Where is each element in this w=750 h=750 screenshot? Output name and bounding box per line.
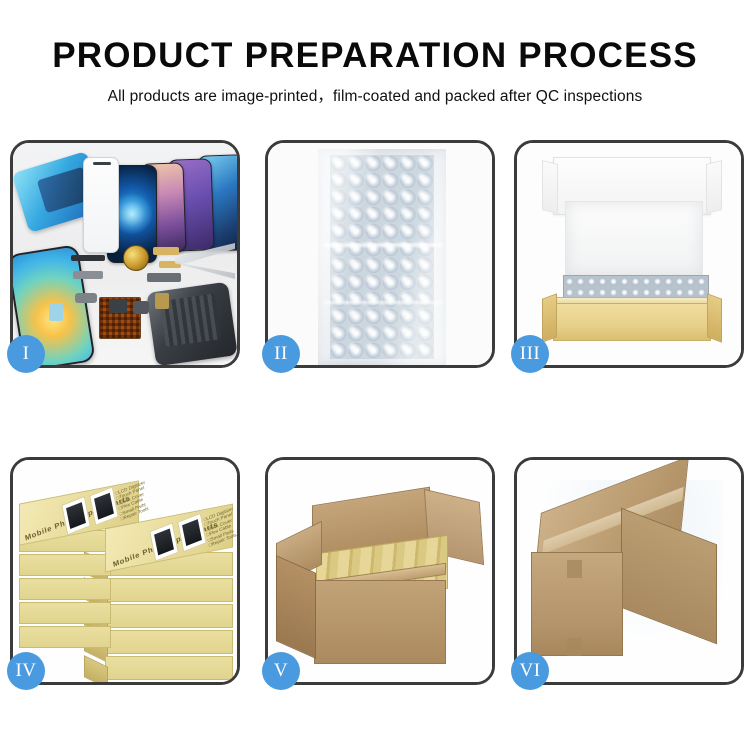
page-subtitle: All products are image-printed，film-coat… (0, 84, 750, 106)
spare-part-icon (71, 255, 105, 261)
carton-left-face (276, 555, 316, 659)
step-panel-5: V (265, 457, 495, 685)
step-2-image (268, 143, 492, 365)
spare-part-icon (109, 299, 127, 313)
spare-part-icon (49, 303, 63, 321)
step-badge-5: V (262, 652, 300, 690)
step-panel-4: Mobile Phone Spare Parts LCD Digitizer T… (10, 457, 240, 685)
carton-front-face (314, 580, 446, 664)
step-panel-2: II (265, 140, 495, 368)
step-badge-4: IV (7, 652, 45, 690)
product-preparation-infographic: PRODUCT PREPARATION PROCESS All products… (0, 0, 750, 750)
box-phone-image (149, 522, 179, 561)
steps-grid: I II III (0, 140, 750, 685)
carton-seam (567, 560, 582, 578)
speaker-coil-icon (123, 245, 149, 271)
step-5-image (268, 460, 492, 682)
spare-part-icon (75, 293, 97, 303)
header: PRODUCT PREPARATION PROCESS All products… (0, 0, 750, 125)
kraft-box-slab (19, 554, 111, 576)
spare-part-icon (155, 293, 169, 309)
step-badge-2: II (262, 335, 300, 373)
spare-part-icon (73, 271, 103, 279)
kraft-box-slab (105, 656, 233, 680)
flex-cable-icon (153, 247, 179, 255)
kraft-box-slab (105, 604, 233, 628)
step-1-image (13, 143, 237, 365)
kraft-box-slab (19, 626, 111, 648)
kraft-box-slab (19, 578, 111, 600)
box-side (84, 655, 108, 682)
step-panel-1: I (10, 140, 240, 368)
plastic-sheen (318, 149, 446, 365)
carton-seam (567, 638, 582, 656)
step-badge-1: I (7, 335, 45, 373)
box-phone-image (177, 513, 207, 552)
box-phone-image (89, 486, 119, 525)
step-panel-6: VI (514, 457, 744, 685)
spare-part-icon (147, 273, 181, 282)
step-3-image (517, 143, 741, 365)
kraft-box-stack: Mobile Phone Spare Parts LCD Digitizer T… (13, 466, 237, 678)
step-6-image (517, 460, 741, 682)
box-checklist: LCD Digitizer Touch Panel Back Cover Fle… (203, 506, 237, 548)
kraft-box-slab (19, 602, 111, 624)
spare-part-icon (133, 301, 149, 314)
box-phone-image (61, 496, 91, 535)
pouch-seam (324, 243, 442, 247)
step-badge-3: III (511, 335, 549, 373)
step-badge-6: VI (511, 652, 549, 690)
foam-sheet-icon (565, 201, 703, 277)
kraft-box-front-icon (553, 303, 711, 341)
box-checklist: LCD Digitizer Touch Panel Back Cover Fle… (115, 480, 150, 522)
kraft-box-slab (105, 578, 233, 602)
pouch-seam (324, 301, 442, 304)
tempered-glass-icon (83, 157, 119, 253)
step-panel-3: III (514, 140, 744, 368)
step-4-image: Mobile Phone Spare Parts LCD Digitizer T… (13, 460, 237, 682)
kraft-box-slab (105, 630, 233, 654)
page-title: PRODUCT PREPARATION PROCESS (0, 36, 750, 76)
